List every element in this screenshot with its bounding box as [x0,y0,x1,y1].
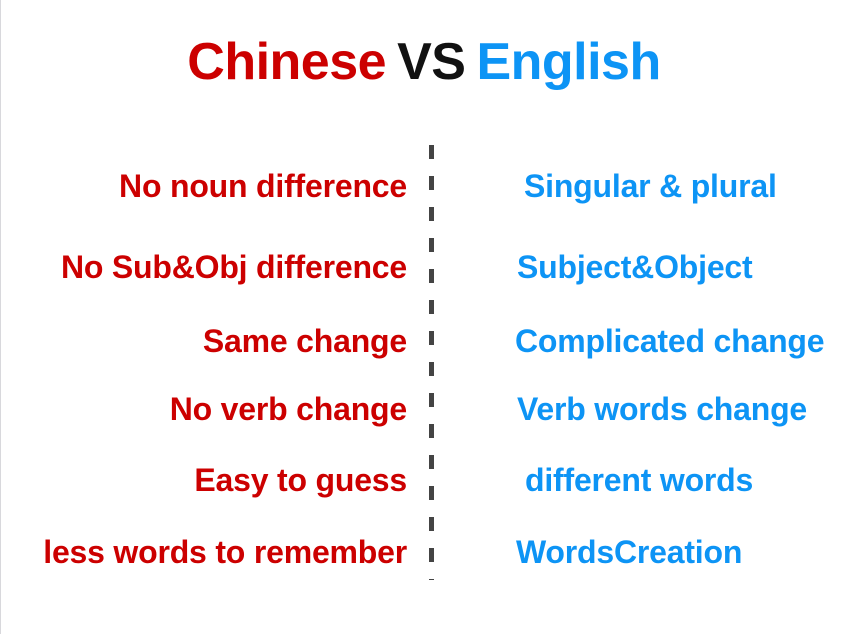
chinese-feature-5: Easy to guess [1,463,407,498]
comparison-table: No noun difference Singular & plural No … [1,148,846,588]
page-title: ChineseVSEnglish [1,33,846,93]
english-feature-2: Subject&Object [463,250,846,285]
chinese-feature-4: No verb change [1,392,407,427]
chinese-feature-2: No Sub&Obj difference [1,250,407,285]
chinese-feature-1: No noun difference [1,169,407,204]
title-word-vs: VS [397,33,465,91]
table-row: No verb change Verb words change [1,387,846,433]
english-feature-4: Verb words change [463,392,846,427]
table-row: Same change Complicated change [1,319,846,365]
table-row: Easy to guess different words [1,458,846,504]
english-feature-6: WordsCreation [463,535,846,570]
title-word-english: English [476,33,660,91]
table-row: No noun difference Singular & plural [1,164,846,210]
chinese-feature-6: less words to remember [1,535,407,570]
chinese-feature-3: Same change [1,324,407,359]
table-row: less words to remember WordsCreation [1,530,846,576]
english-feature-1: Singular & plural [463,169,846,204]
english-feature-5: different words [463,463,846,498]
title-word-chinese: Chinese [187,33,386,91]
table-row: No Sub&Obj difference Subject&Object [1,245,846,291]
column-divider [429,145,434,580]
comparison-slide: ChineseVSEnglish No noun difference Sing… [0,0,846,634]
english-feature-3: Complicated change [463,324,846,359]
